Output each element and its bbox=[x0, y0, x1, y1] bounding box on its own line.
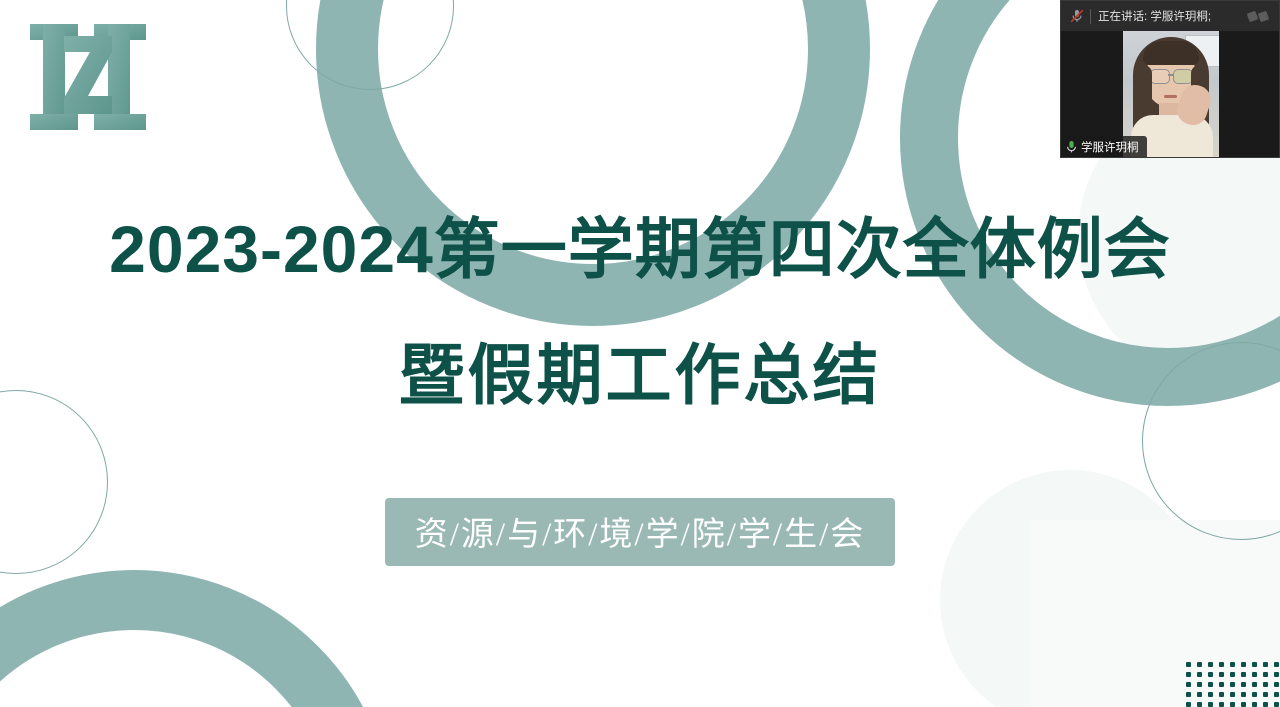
subtitle-container: 资/源/与/环/境/学/院/学/生/会 bbox=[0, 498, 1280, 566]
mic-muted-icon[interactable] bbox=[1069, 8, 1085, 24]
mic-active-icon bbox=[1066, 140, 1077, 154]
decor-outline-circle-top bbox=[286, 0, 454, 90]
student-union-monogram-logo bbox=[26, 18, 152, 136]
participant-name: 学服许玥桐 bbox=[1081, 139, 1139, 155]
view-layout-icon[interactable] bbox=[1247, 9, 1273, 23]
decor-ring-bottom-left bbox=[0, 570, 394, 707]
title-line-1: 2023-2024第一学期第四次全体例会 bbox=[0, 186, 1280, 312]
active-speaker-label: 正在讲话: 学服许玥桐; bbox=[1098, 8, 1245, 24]
header-divider bbox=[1090, 9, 1091, 24]
decor-dot-grid bbox=[1186, 662, 1280, 707]
organization-subtitle: 资/源/与/环/境/学/院/学/生/会 bbox=[385, 498, 896, 566]
presentation-slide: 2023-2024第一学期第四次全体例会 暨假期工作总结 资/源/与/环/境/学… bbox=[0, 0, 1280, 707]
zoom-window-header[interactable]: 正在讲话: 学服许玥桐; bbox=[1061, 1, 1279, 31]
zoom-video-window[interactable]: 正在讲话: 学服许玥桐; bbox=[1060, 0, 1280, 158]
title-line-2: 暨假期工作总结 bbox=[0, 312, 1280, 438]
zoom-video-area[interactable]: 学服许玥桐 bbox=[1061, 31, 1279, 158]
participant-name-badge: 学服许玥桐 bbox=[1061, 136, 1147, 158]
page-title: 2023-2024第一学期第四次全体例会 暨假期工作总结 bbox=[0, 186, 1280, 438]
